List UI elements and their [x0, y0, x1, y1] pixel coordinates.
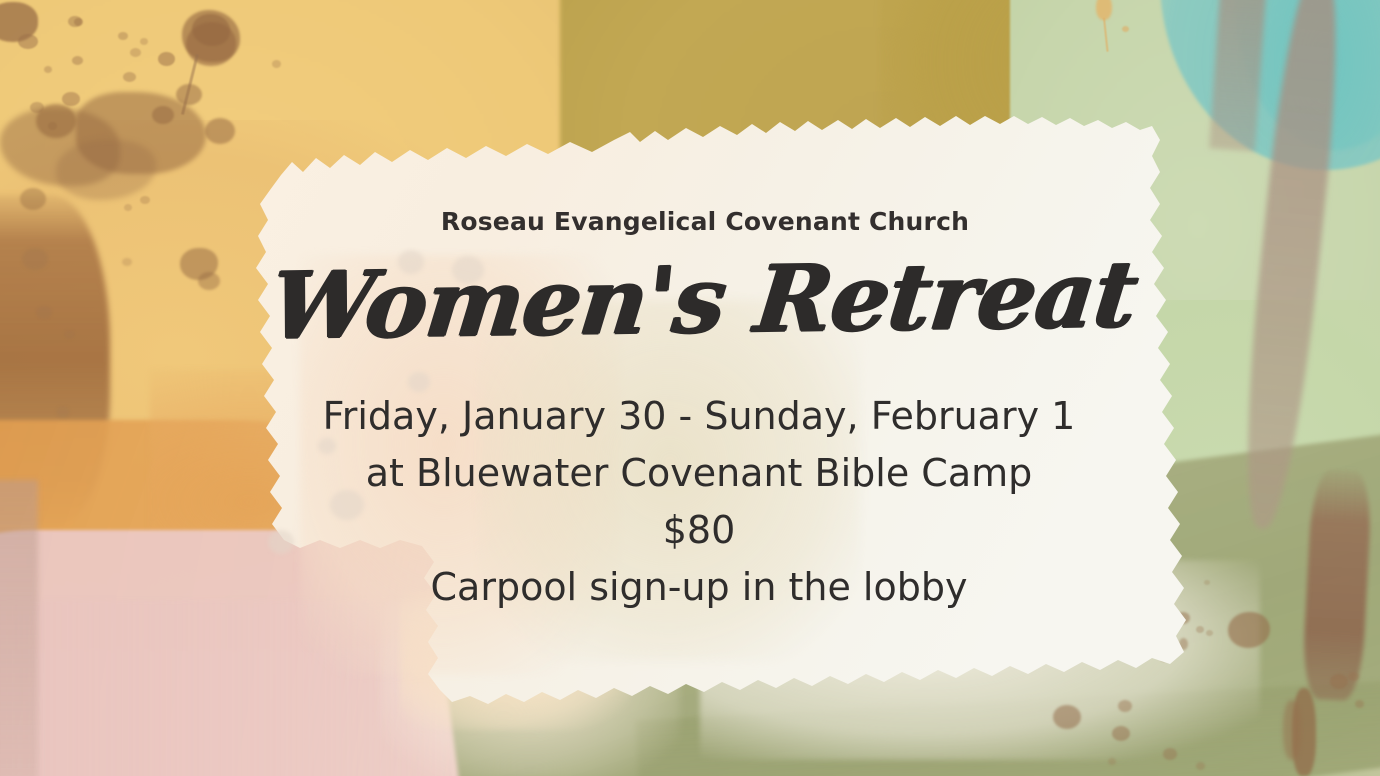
poster-content: Roseau Evangelical Covenant Church Women…: [0, 0, 1380, 776]
poster-canvas: Roseau Evangelical Covenant Church Women…: [0, 0, 1380, 776]
event-details: Friday, January 30 - Sunday, February 1 …: [323, 388, 1076, 616]
organization-name: Roseau Evangelical Covenant Church: [441, 207, 969, 236]
event-dates: Friday, January 30 - Sunday, February 1: [323, 388, 1076, 445]
page-title: Women's Retreat: [267, 248, 1142, 352]
event-signup-note: Carpool sign-up in the lobby: [323, 559, 1076, 616]
event-venue: at Bluewater Covenant Bible Camp: [323, 445, 1076, 502]
event-price: $80: [323, 502, 1076, 559]
